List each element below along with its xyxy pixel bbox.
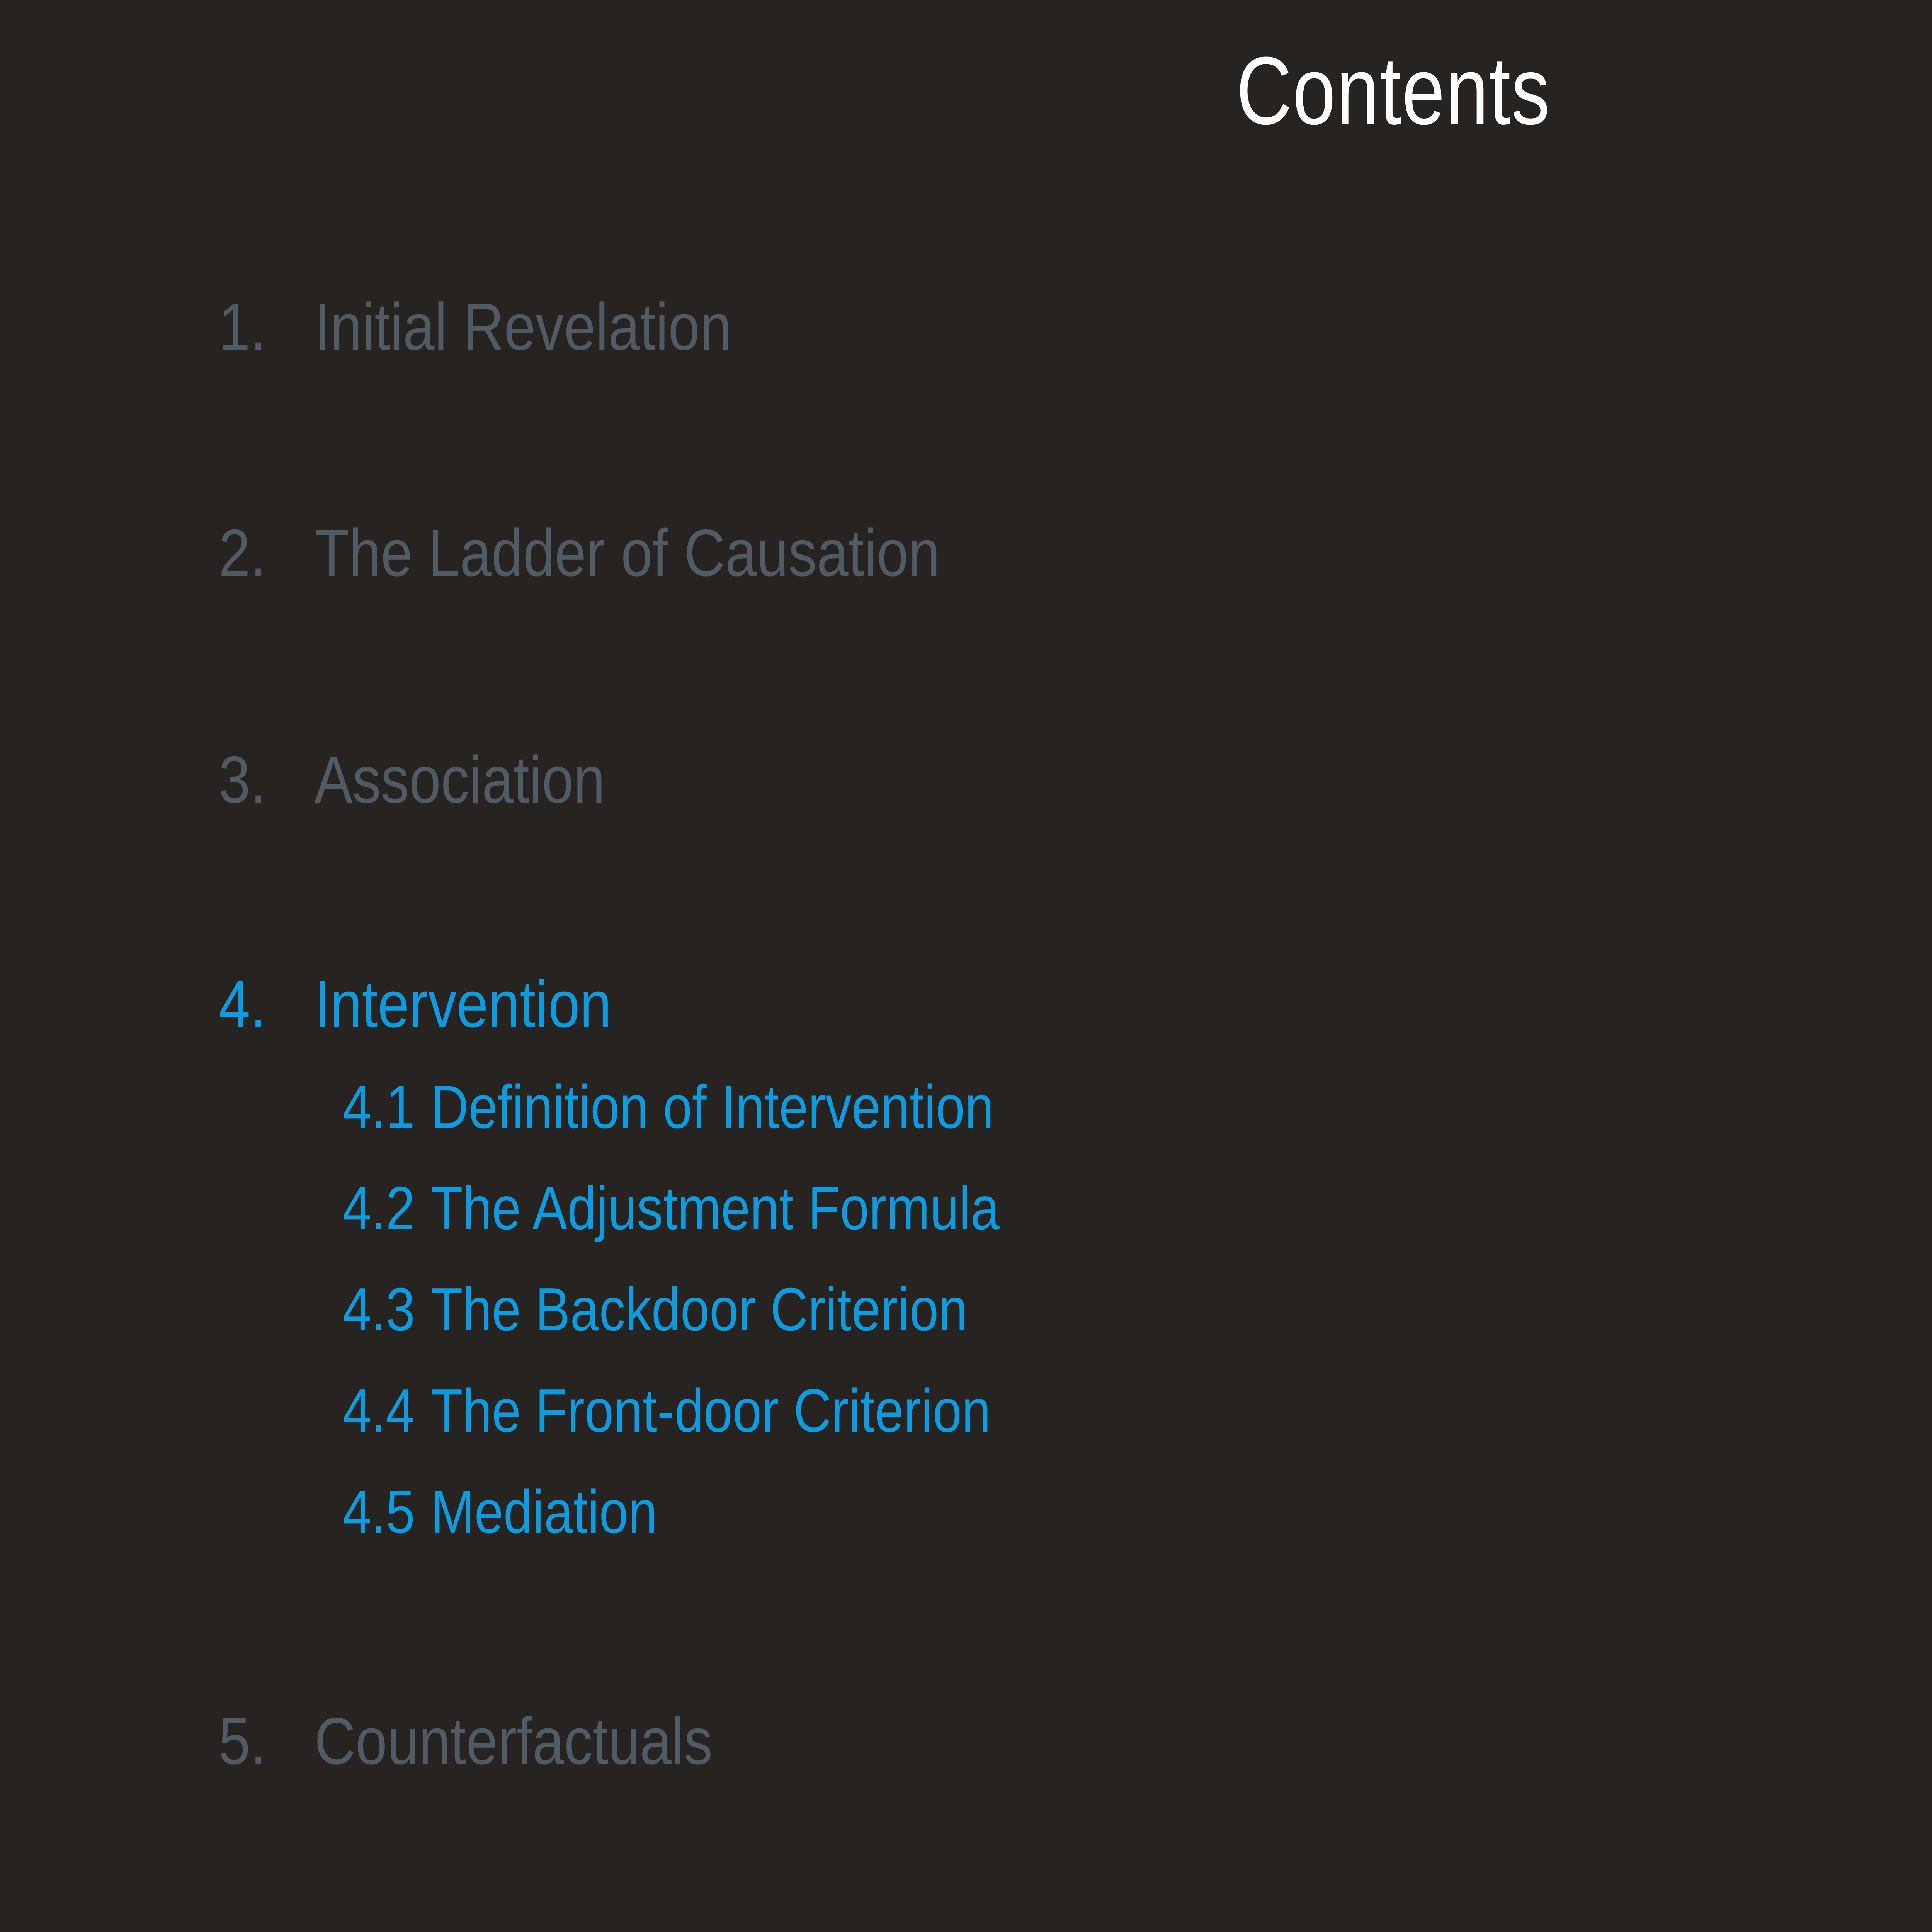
toc-subsection-4-5-number: 4.5 [342,1481,431,1543]
toc-section-1-label: Initial Revelation [315,290,731,364]
toc-section-4-number: 4. [219,971,315,1037]
toc-section-3-number: 3. [219,747,315,813]
toc-section-5-number: 5. [219,1708,315,1774]
toc-section-6-label: Preview of next topic [315,1929,839,1932]
toc-subsection-4-4[interactable]: 4.4The Front-door Criterion [342,1380,991,1441]
toc-subsection-4-2-number: 4.2 [342,1178,431,1239]
toc-subsection-4-1[interactable]: 4.1Definition of Intervention [342,1077,994,1138]
toc-section-2-number: 2. [219,520,315,586]
slide-canvas: Contents 1.Initial [0,0,1932,1932]
toc-section-1-number: 1. [219,294,315,360]
toc-section-3[interactable]: 3.Association [219,747,605,813]
toc-subsection-4-5[interactable]: 4.5Mediation [342,1481,657,1543]
toc-section-4[interactable]: 4.Intervention [219,971,611,1037]
toc-subsection-4-1-label: Definition of Intervention [431,1073,994,1141]
table-of-contents: 1.Initial Revelation 2.The Ladder of Cau… [0,0,1932,1932]
toc-section-4-label: Intervention [315,967,611,1041]
toc-section-2-label: The Ladder of Causation [315,516,940,590]
toc-section-3-label: Association [315,743,605,817]
toc-subsection-4-5-label: Mediation [431,1478,657,1546]
toc-subsection-4-2[interactable]: 4.2The Adjustment Formula [342,1178,1000,1239]
toc-subsection-4-3[interactable]: 4.3The Backdoor Criterion [342,1279,968,1340]
toc-section-5-label: Counterfactuals [315,1704,713,1778]
toc-subsection-4-3-number: 4.3 [342,1279,431,1340]
toc-section-5[interactable]: 5.Counterfactuals [219,1708,713,1774]
toc-subsection-4-3-label: The Backdoor Criterion [431,1276,968,1344]
toc-section-1[interactable]: 1.Initial Revelation [219,294,731,360]
toc-subsection-4-1-number: 4.1 [342,1077,431,1138]
toc-subsection-4-4-number: 4.4 [342,1380,431,1441]
toc-subsection-4-2-label: The Adjustment Formula [431,1174,1000,1242]
toc-section-2[interactable]: 2.The Ladder of Causation [219,520,940,586]
toc-subsection-4-4-label: The Front-door Criterion [431,1377,991,1445]
